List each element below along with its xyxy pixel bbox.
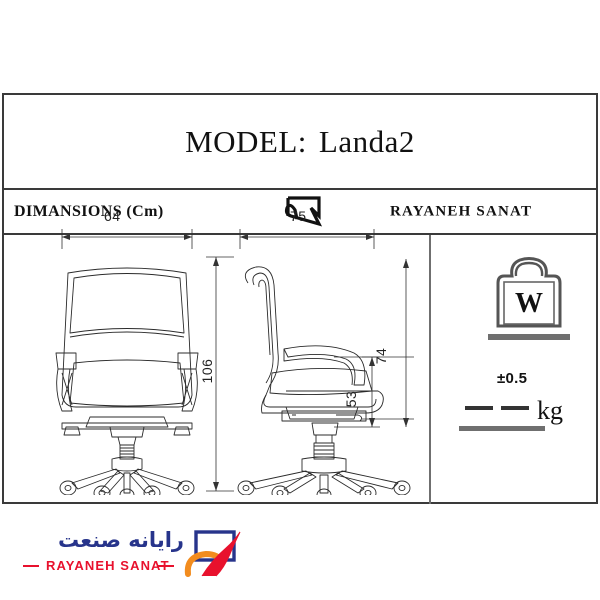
- logo-dash-left: [23, 565, 39, 567]
- weight-unit: kg: [537, 396, 563, 426]
- weight-blank-dashes-icon: [459, 390, 589, 434]
- dimension-75: [226, 207, 406, 249]
- model-title-row: MODEL: Landa2: [4, 95, 596, 188]
- logo-dash-right: [158, 565, 174, 567]
- drawing-frame: MODEL: Landa2 DIMANSIONS (Cm) RAYANEH SA…: [2, 93, 598, 504]
- right-panel-divider: [429, 235, 431, 504]
- logo-english-text: RAYANEH SANAT: [46, 558, 170, 573]
- weight-value-row: kg: [459, 390, 589, 434]
- company-name: RAYANEH SANAT: [390, 203, 532, 220]
- model-label: MODEL:: [185, 124, 307, 160]
- weight-symbol-icon: W: [474, 250, 584, 360]
- dimension-64: [32, 207, 222, 249]
- model-name: Landa2: [319, 124, 415, 160]
- drawing-sheet: MODEL: Landa2 DIMANSIONS (Cm) RAYANEH SA…: [0, 0, 600, 600]
- tolerance-value: ±0.5: [497, 370, 527, 387]
- footer-logo: رایانه صنعت RAYANEH SANAT: [18, 528, 248, 590]
- dimension-64-label: 64: [104, 208, 121, 224]
- svg-text:W: W: [515, 288, 543, 319]
- logo-persian-text: رایانه صنعت: [24, 528, 184, 554]
- dimension-53-label: 53: [343, 388, 359, 410]
- dimension-75-label: 75: [290, 208, 307, 224]
- weight-tolerance-block: ±0.5 kg: [459, 370, 589, 460]
- dimension-106-label: 106: [199, 358, 215, 384]
- logo-mark-icon: [178, 526, 250, 580]
